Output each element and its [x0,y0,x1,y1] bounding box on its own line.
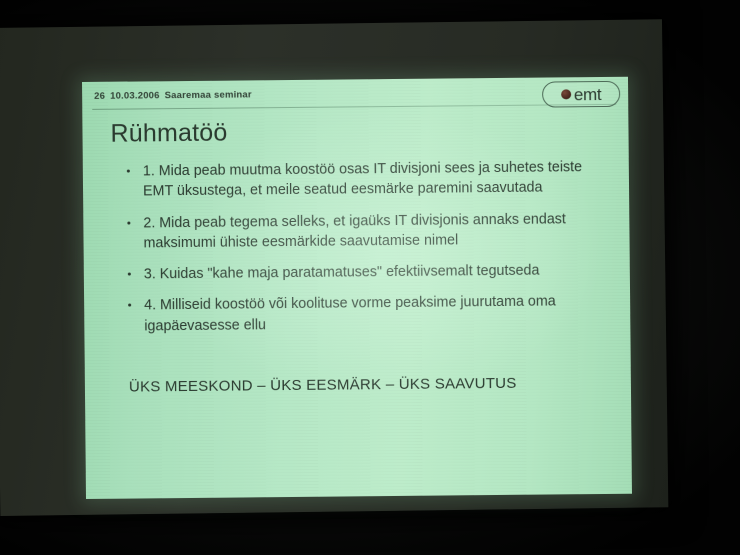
emt-wordmark: emt [574,86,602,103]
slide-event-name: Saaremaa seminar [165,89,252,101]
bullet-text: 3. Kuidas "kahe maja paratamatuses" efek… [144,263,540,283]
bullet-dot-icon [128,304,131,307]
slide-slogan: ÜKS MEESKOND – ÜKS EESMÄRK – ÜKS SAAVUTU… [129,375,517,396]
bullet-text: 1. Mida peab muutma koostöö osas IT divi… [143,159,582,200]
bullet-dot-icon [128,273,131,276]
slide-header-meta: 2610.03.2006Saaremaa seminar [94,89,252,102]
photograph-of-projected-slide: 2610.03.2006Saaremaa seminar emt Rühmatö… [0,0,740,555]
bullet-dot-icon [127,170,130,173]
bullet-text: 2. Mida peab tegema selleks, et igaüks I… [143,211,566,251]
slide-bullet-list: 1. Mida peab muutma koostöö osas IT divi… [125,157,611,337]
presentation-slide: 2610.03.2006Saaremaa seminar emt Rühmatö… [82,77,632,499]
bullet-item: 3. Kuidas "kahe maja paratamatuses" efek… [126,260,610,285]
slide-date: 10.03.2006 [110,90,160,101]
slide-header: 2610.03.2006Saaremaa seminar emt [82,77,628,120]
bullet-dot-icon [127,221,130,224]
bullet-item: 2. Mida peab tegema selleks, et igaüks I… [125,209,609,254]
slide-title: Rühmatöö [110,119,227,149]
bullet-item: 4. Milliseid koostöö või koolituse vorme… [126,291,610,336]
bullet-item: 1. Mida peab muutma koostöö osas IT divi… [125,157,609,202]
header-divider [92,104,616,110]
emt-dot-icon [561,89,571,99]
bullet-text: 4. Milliseid koostöö või koolituse vorme… [144,294,556,334]
slide-number: 26 [94,91,105,102]
